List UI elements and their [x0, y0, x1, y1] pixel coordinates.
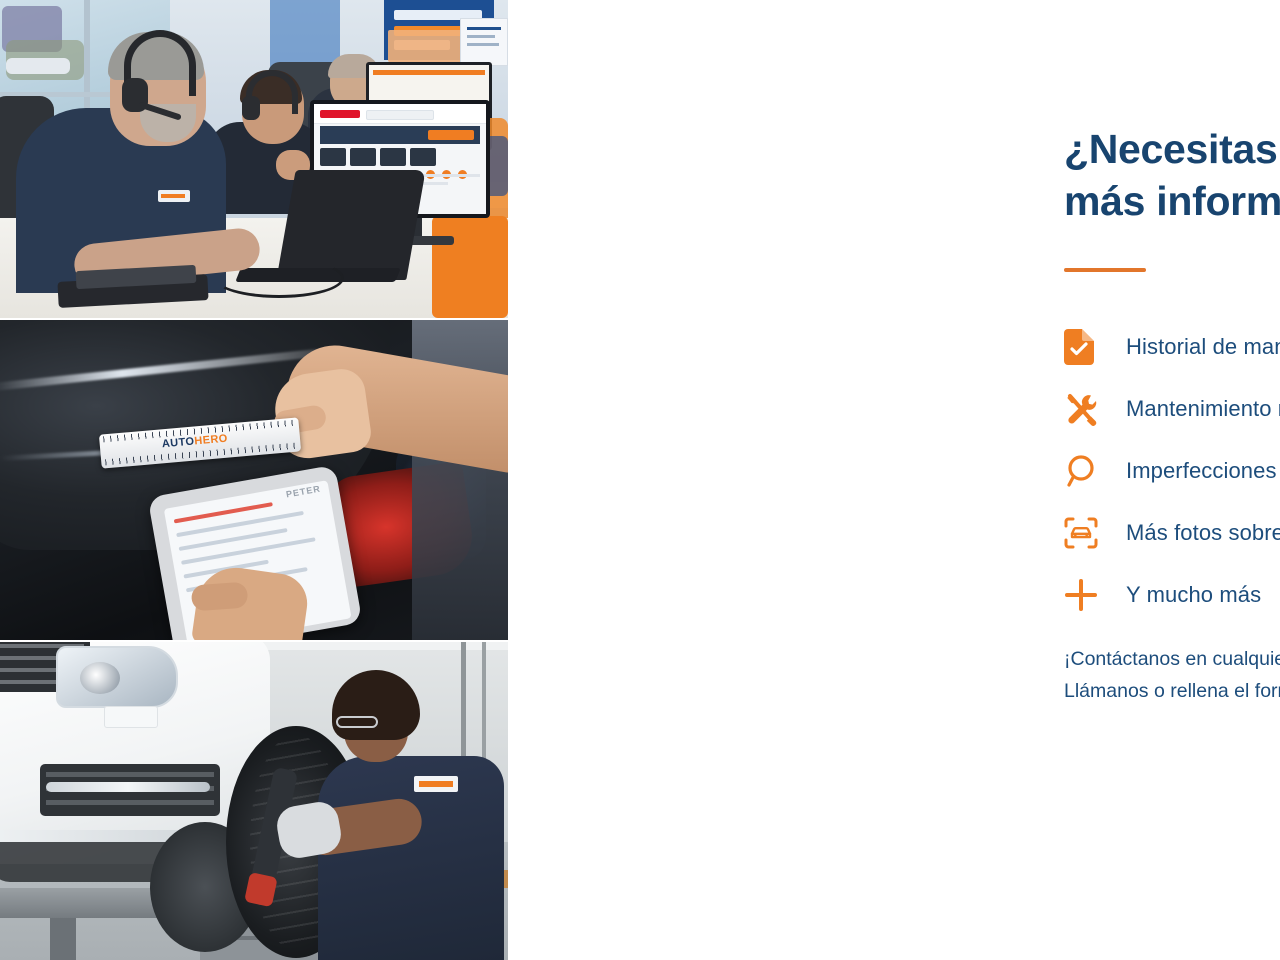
photo-column: AUTOHERO PETER [0, 0, 508, 960]
feature-label: Imperfecciones [1126, 458, 1277, 484]
call-center-agents-photo [0, 0, 508, 318]
photo1-agent-2-earcup [242, 96, 260, 120]
car-frame-icon [1064, 517, 1126, 549]
photo1-notice-board [460, 18, 508, 66]
plus-icon [1064, 578, 1126, 612]
feature-item-imperfections: Imperfecciones [1064, 440, 1280, 502]
page-title-line-1: ¿Necesitas [1064, 126, 1278, 172]
photo1-outdoor-car [6, 58, 70, 74]
page-title: ¿Necesitas más información? [1064, 124, 1280, 227]
photo3-mechanic-glasses [336, 716, 378, 728]
feature-label: Mantenimiento realizado [1126, 396, 1280, 422]
magnifier-icon [1064, 454, 1126, 488]
workshop-tire-photo [0, 642, 508, 960]
photo3-mechanic [330, 668, 508, 960]
document-check-icon [1064, 329, 1126, 365]
tools-icon [1064, 392, 1126, 426]
photo3-chrome-trim [46, 782, 210, 792]
photo3-mechanic-logo-badge [414, 776, 458, 792]
photo3-mechanic-hair [332, 670, 420, 740]
photo3-mechanic-body [318, 756, 504, 960]
page-title-line-2: más información? [1064, 178, 1280, 224]
photo3-plate-area [104, 706, 158, 728]
car-inspection-photo: AUTOHERO PETER [0, 320, 508, 640]
feature-label: Y mucho más [1126, 582, 1261, 608]
photo3-headlight [56, 646, 178, 708]
feature-label: Más fotos sobre el coche [1126, 520, 1280, 546]
content-panel: ¿Necesitas más información? Estamos enca… [508, 0, 1280, 960]
photo1-cable [214, 258, 344, 298]
contact-paragraph-line-2: Llámanos o rellena el formulario de cont… [1064, 676, 1280, 708]
contact-paragraph-line-1: ¡Contáctanos en cualquier momento para m… [1064, 644, 1280, 676]
feature-item-and-more: Y mucho más [1064, 564, 1280, 626]
promo-page: AUTOHERO PETER [0, 0, 1280, 960]
feature-item-maintenance-history: Historial de mantenimientos [1064, 316, 1280, 378]
feature-label: Historial de mantenimientos [1126, 334, 1280, 360]
contact-paragraph: ¡Contáctanos en cualquier momento para m… [1064, 644, 1280, 707]
feature-item-maintenance-done: Mantenimiento realizado [1064, 378, 1280, 440]
feature-list: Historial de mantenimientos Mantenimient… [1064, 316, 1280, 626]
photo3-wall-trim [230, 642, 508, 650]
title-underline-rule [1064, 268, 1146, 272]
photo1-agent-1-logo-badge [158, 190, 190, 202]
feature-item-more-photos: Más fotos sobre el coche [1064, 502, 1280, 564]
photo3-lift-post [50, 918, 76, 960]
photo1-orange-chair-2 [432, 216, 508, 318]
